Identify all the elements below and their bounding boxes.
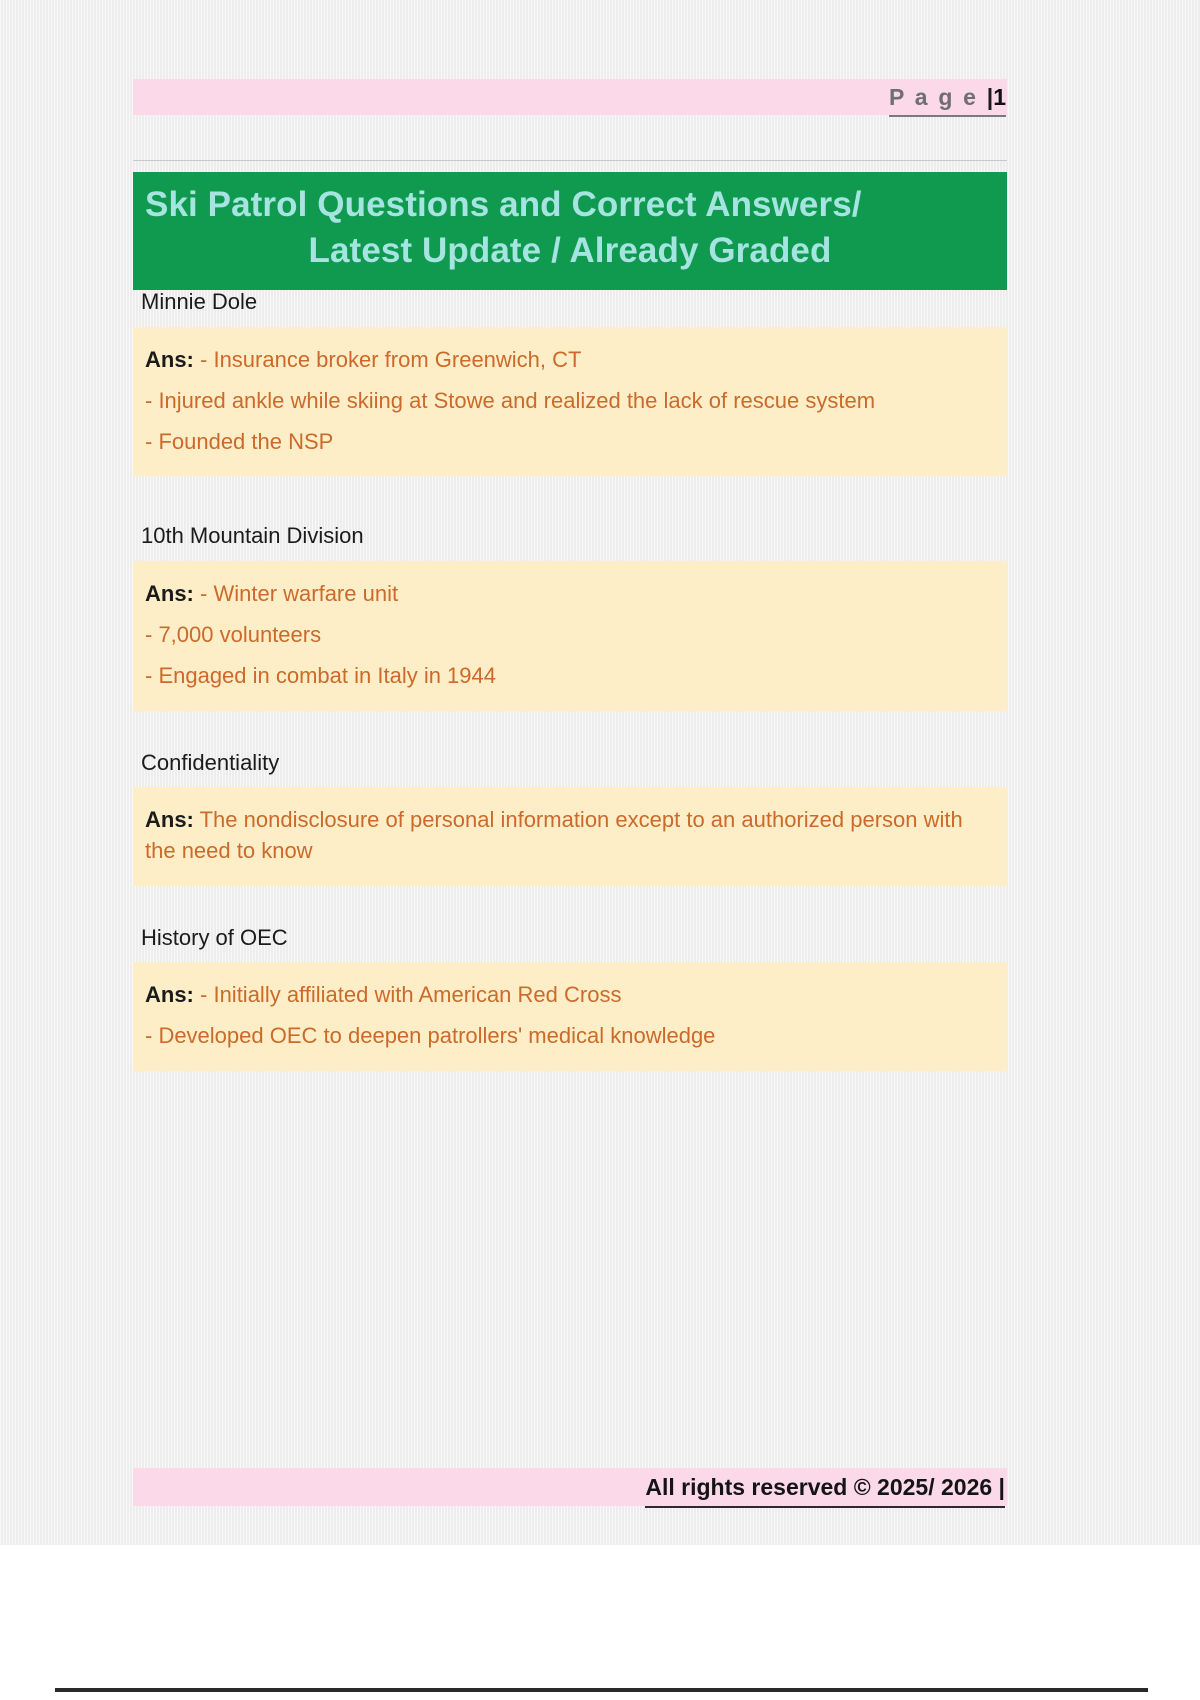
header-divider [133, 160, 1007, 161]
answer-label: Ans: [145, 807, 194, 832]
answer-line: - 7,000 volunteers [135, 614, 997, 655]
answer-text: - Winter warfare unit [200, 581, 398, 606]
answer-line: - Founded the NSP [135, 421, 997, 462]
document-page: P a g e |1 Ski Patrol Questions and Corr… [0, 0, 1200, 1545]
qa-item: 10th Mountain Division Ans: - Winter war… [133, 516, 1007, 710]
answer-block: Ans: - Insurance broker from Greenwich, … [133, 327, 1007, 477]
page-number: P a g e |1 [889, 79, 1006, 117]
answer-line: Ans: - Winter warfare unit [135, 573, 997, 614]
page-number-value: 1 [993, 84, 1006, 110]
answer-line: - Developed OEC to deepen patrollers' me… [135, 1015, 997, 1056]
answer-text: - Initially affiliated with American Red… [200, 982, 621, 1007]
answer-line: Ans: The nondisclosure of personal infor… [135, 799, 997, 871]
qa-item: History of OEC Ans: - Initially affiliat… [133, 918, 1007, 1071]
document-title-line-1: Ski Patrol Questions and Correct Answers… [145, 182, 995, 228]
answer-block: Ans: The nondisclosure of personal infor… [133, 787, 1007, 885]
answer-line: Ans: - Insurance broker from Greenwich, … [135, 339, 997, 380]
document-title-line-2: Latest Update / Already Graded [145, 228, 995, 274]
qa-list: Minnie Dole Ans: - Insurance broker from… [133, 282, 1007, 1103]
qa-item: Minnie Dole Ans: - Insurance broker from… [133, 282, 1007, 476]
answer-text: The nondisclosure of personal informatio… [145, 807, 963, 863]
answer-block: Ans: - Initially affiliated with America… [133, 962, 1007, 1070]
page-number-label: P a g e [889, 84, 987, 110]
answer-line: - Engaged in combat in Italy in 1944 [135, 655, 997, 696]
question-heading: History of OEC [133, 918, 1007, 963]
answer-text: - Insurance broker from Greenwich, CT [200, 347, 581, 372]
answer-line: - Injured ankle while skiing at Stowe an… [135, 380, 997, 421]
question-heading: Confidentiality [133, 743, 1007, 788]
answer-label: Ans: [145, 347, 194, 372]
answer-label: Ans: [145, 581, 194, 606]
document-title-banner: Ski Patrol Questions and Correct Answers… [133, 172, 1007, 290]
page-header-band: P a g e |1 [133, 79, 1007, 115]
copyright-text: All rights reserved © 2025/ 2026 | [645, 1468, 1005, 1508]
answer-line: Ans: - Initially affiliated with America… [135, 974, 997, 1015]
answer-block: Ans: - Winter warfare unit - 7,000 volun… [133, 561, 1007, 711]
question-heading: Minnie Dole [133, 282, 1007, 327]
page-footer-band: All rights reserved © 2025/ 2026 | [133, 1468, 1007, 1506]
qa-item: Confidentiality Ans: The nondisclosure o… [133, 743, 1007, 886]
answer-label: Ans: [145, 982, 194, 1007]
next-page-divider [55, 1688, 1148, 1692]
question-heading: 10th Mountain Division [133, 516, 1007, 561]
